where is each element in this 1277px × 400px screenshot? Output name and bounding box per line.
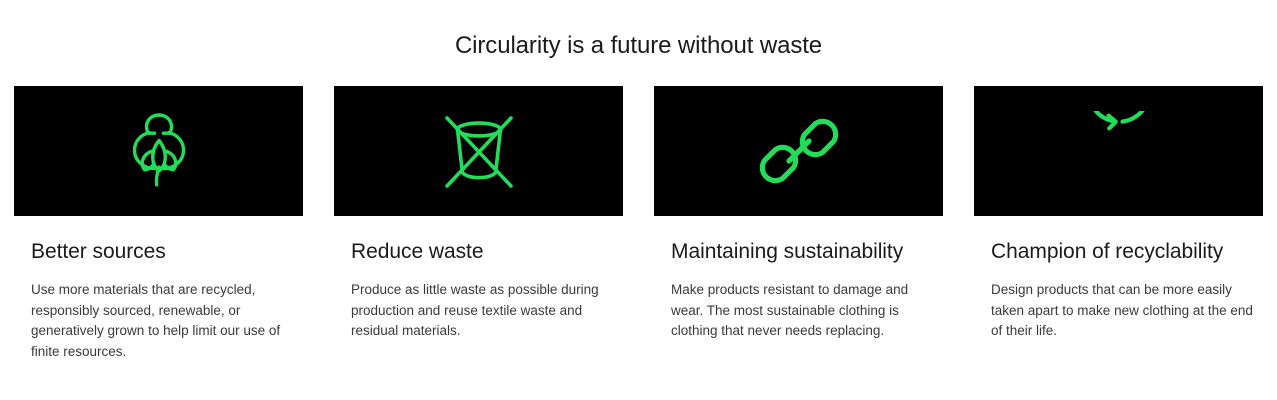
card-better-sources: Better sources Use more materials that a…	[14, 86, 303, 362]
chain-link-icon	[758, 110, 840, 192]
card-title: Better sources	[31, 236, 281, 267]
card-media-champion-of-recyclability	[974, 86, 1263, 216]
card-reduce-waste: Reduce waste Produce as little waste as …	[334, 86, 623, 362]
page-title: Circularity is a future without waste	[0, 0, 1277, 61]
card-media-maintaining-sustainability	[654, 86, 943, 216]
card-body: Make products resistant to damage and we…	[671, 280, 927, 342]
card-media-better-sources	[14, 86, 303, 216]
card-title: Maintaining sustainability	[671, 236, 921, 267]
card-body: Produce as little waste as possible duri…	[351, 280, 607, 342]
card-grid: Better sources Use more materials that a…	[0, 86, 1277, 362]
card-maintaining-sustainability: Maintaining sustainability Make products…	[654, 86, 943, 362]
card-title: Champion of recyclability	[991, 236, 1241, 267]
card-media-reduce-waste	[334, 86, 623, 216]
card-body: Design products that can be more easily …	[991, 280, 1253, 342]
circular-arrow-icon	[1079, 111, 1159, 191]
card-champion-of-recyclability: Champion of recyclability Design product…	[974, 86, 1263, 362]
card-title: Reduce waste	[351, 236, 601, 267]
card-body: Use more materials that are recycled, re…	[31, 280, 287, 362]
crossed-out-waste-bin-icon	[439, 110, 519, 192]
circularity-section: Circularity is a future without waste	[0, 0, 1277, 400]
cotton-boll-icon	[121, 109, 197, 193]
